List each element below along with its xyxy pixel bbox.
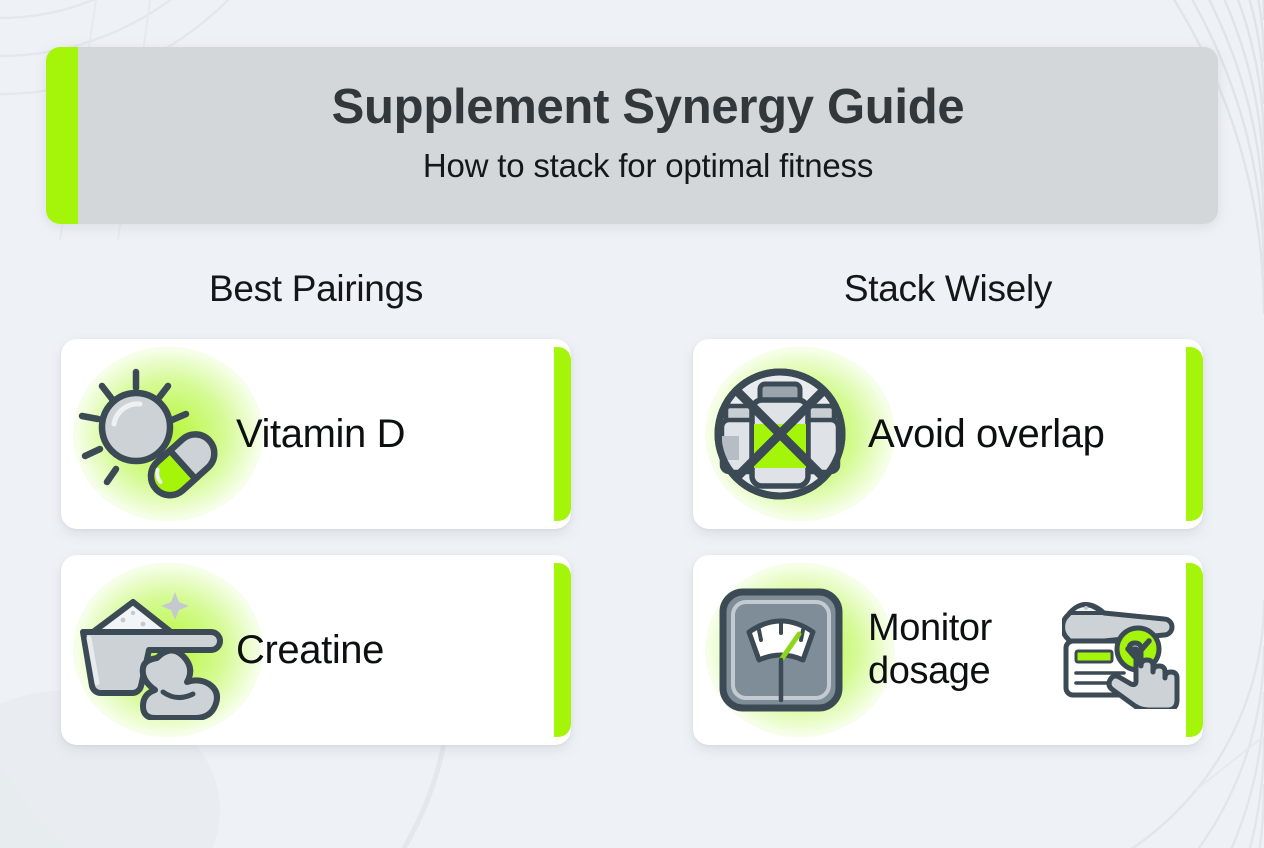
- column-title-best-pairings: Best Pairings: [209, 268, 423, 310]
- page-subtitle: How to stack for optimal fitness: [423, 147, 873, 185]
- page-title: Supplement Synergy Guide: [332, 82, 965, 134]
- sun-and-capsule-icon: [61, 364, 236, 504]
- card-creatine[interactable]: Creatine: [61, 555, 571, 745]
- card-monitor-dosage[interactable]: Monitor dosage: [693, 555, 1203, 745]
- card-avoid-overlap[interactable]: Avoid overlap: [693, 339, 1203, 529]
- spoon-checklist-hand-icon: [1060, 591, 1185, 709]
- scoop-and-bicep-icon: [61, 580, 236, 720]
- header-banner: Supplement Synergy Guide How to stack fo…: [46, 47, 1218, 224]
- bicep: [143, 650, 217, 718]
- card-label: Monitor dosage: [868, 607, 1060, 692]
- card-label: Avoid overlap: [868, 412, 1203, 457]
- column-title-stack-wisely: Stack Wisely: [844, 268, 1052, 310]
- column-stack-wisely: Stack Wisely: [632, 268, 1264, 771]
- card-accent-bar: [1186, 563, 1203, 737]
- columns-container: Best Pairings: [0, 268, 1264, 771]
- header-content: Supplement Synergy Guide How to stack fo…: [78, 47, 1218, 224]
- card-vitamin-d[interactable]: Vitamin D: [61, 339, 571, 529]
- bathroom-scale-icon: [693, 580, 868, 720]
- column-best-pairings: Best Pairings: [0, 268, 632, 771]
- no-overlapping-bottles-icon: [693, 362, 868, 507]
- card-label: Vitamin D: [236, 412, 571, 457]
- card-label: Creatine: [236, 628, 571, 673]
- header-accent-bar: [46, 47, 78, 224]
